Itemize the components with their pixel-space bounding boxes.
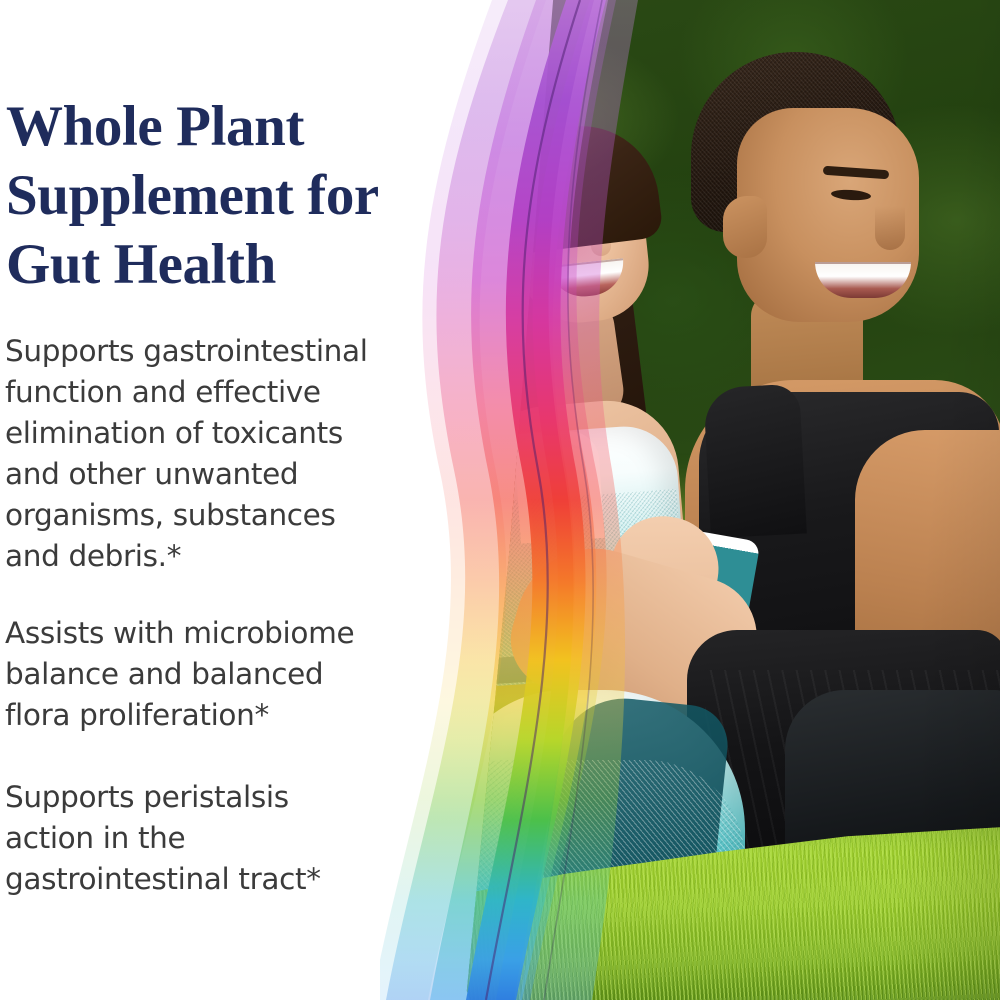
headline-line-3: Gut Health [6,230,496,299]
benefit-1-line-6: and debris.* [5,536,450,577]
benefit-3-line-2: action in the [5,818,450,859]
benefit-1-line-4: and other unwanted [5,454,450,495]
benefit-statement-1: Supports gastrointestinal function and e… [5,331,450,577]
benefit-1-line-2: function and effective [5,372,450,413]
benefit-statement-2: Assists with microbiome balance and bala… [5,613,450,736]
benefit-2-line-1: Assists with microbiome [5,613,450,654]
benefit-1-line-1: Supports gastrointestinal [5,331,450,372]
benefit-statement-3: Supports peristalsis action in the gastr… [5,777,450,900]
marketing-banner: Whole Plant Supplement for Gut Health Su… [0,0,1000,1000]
woman-earring [517,296,525,304]
benefit-3-line-3: gastrointestinal tract* [5,859,450,900]
headline-line-1: Whole Plant [6,92,496,161]
benefit-1-line-3: elimination of toxicants [5,413,450,454]
page-title: Whole Plant Supplement for Gut Health [6,92,496,299]
benefit-2-line-2: balance and balanced [5,654,450,695]
benefit-2-line-3: flora proliferation* [5,695,450,736]
headline-line-2: Supplement for [6,161,496,230]
photo-vignette [455,0,1000,1000]
couple-outdoors-photo [455,0,1000,1000]
text-column: Whole Plant Supplement for Gut Health Su… [0,0,500,1000]
benefit-1-line-5: organisms, substances [5,495,450,536]
benefit-3-line-1: Supports peristalsis [5,777,450,818]
